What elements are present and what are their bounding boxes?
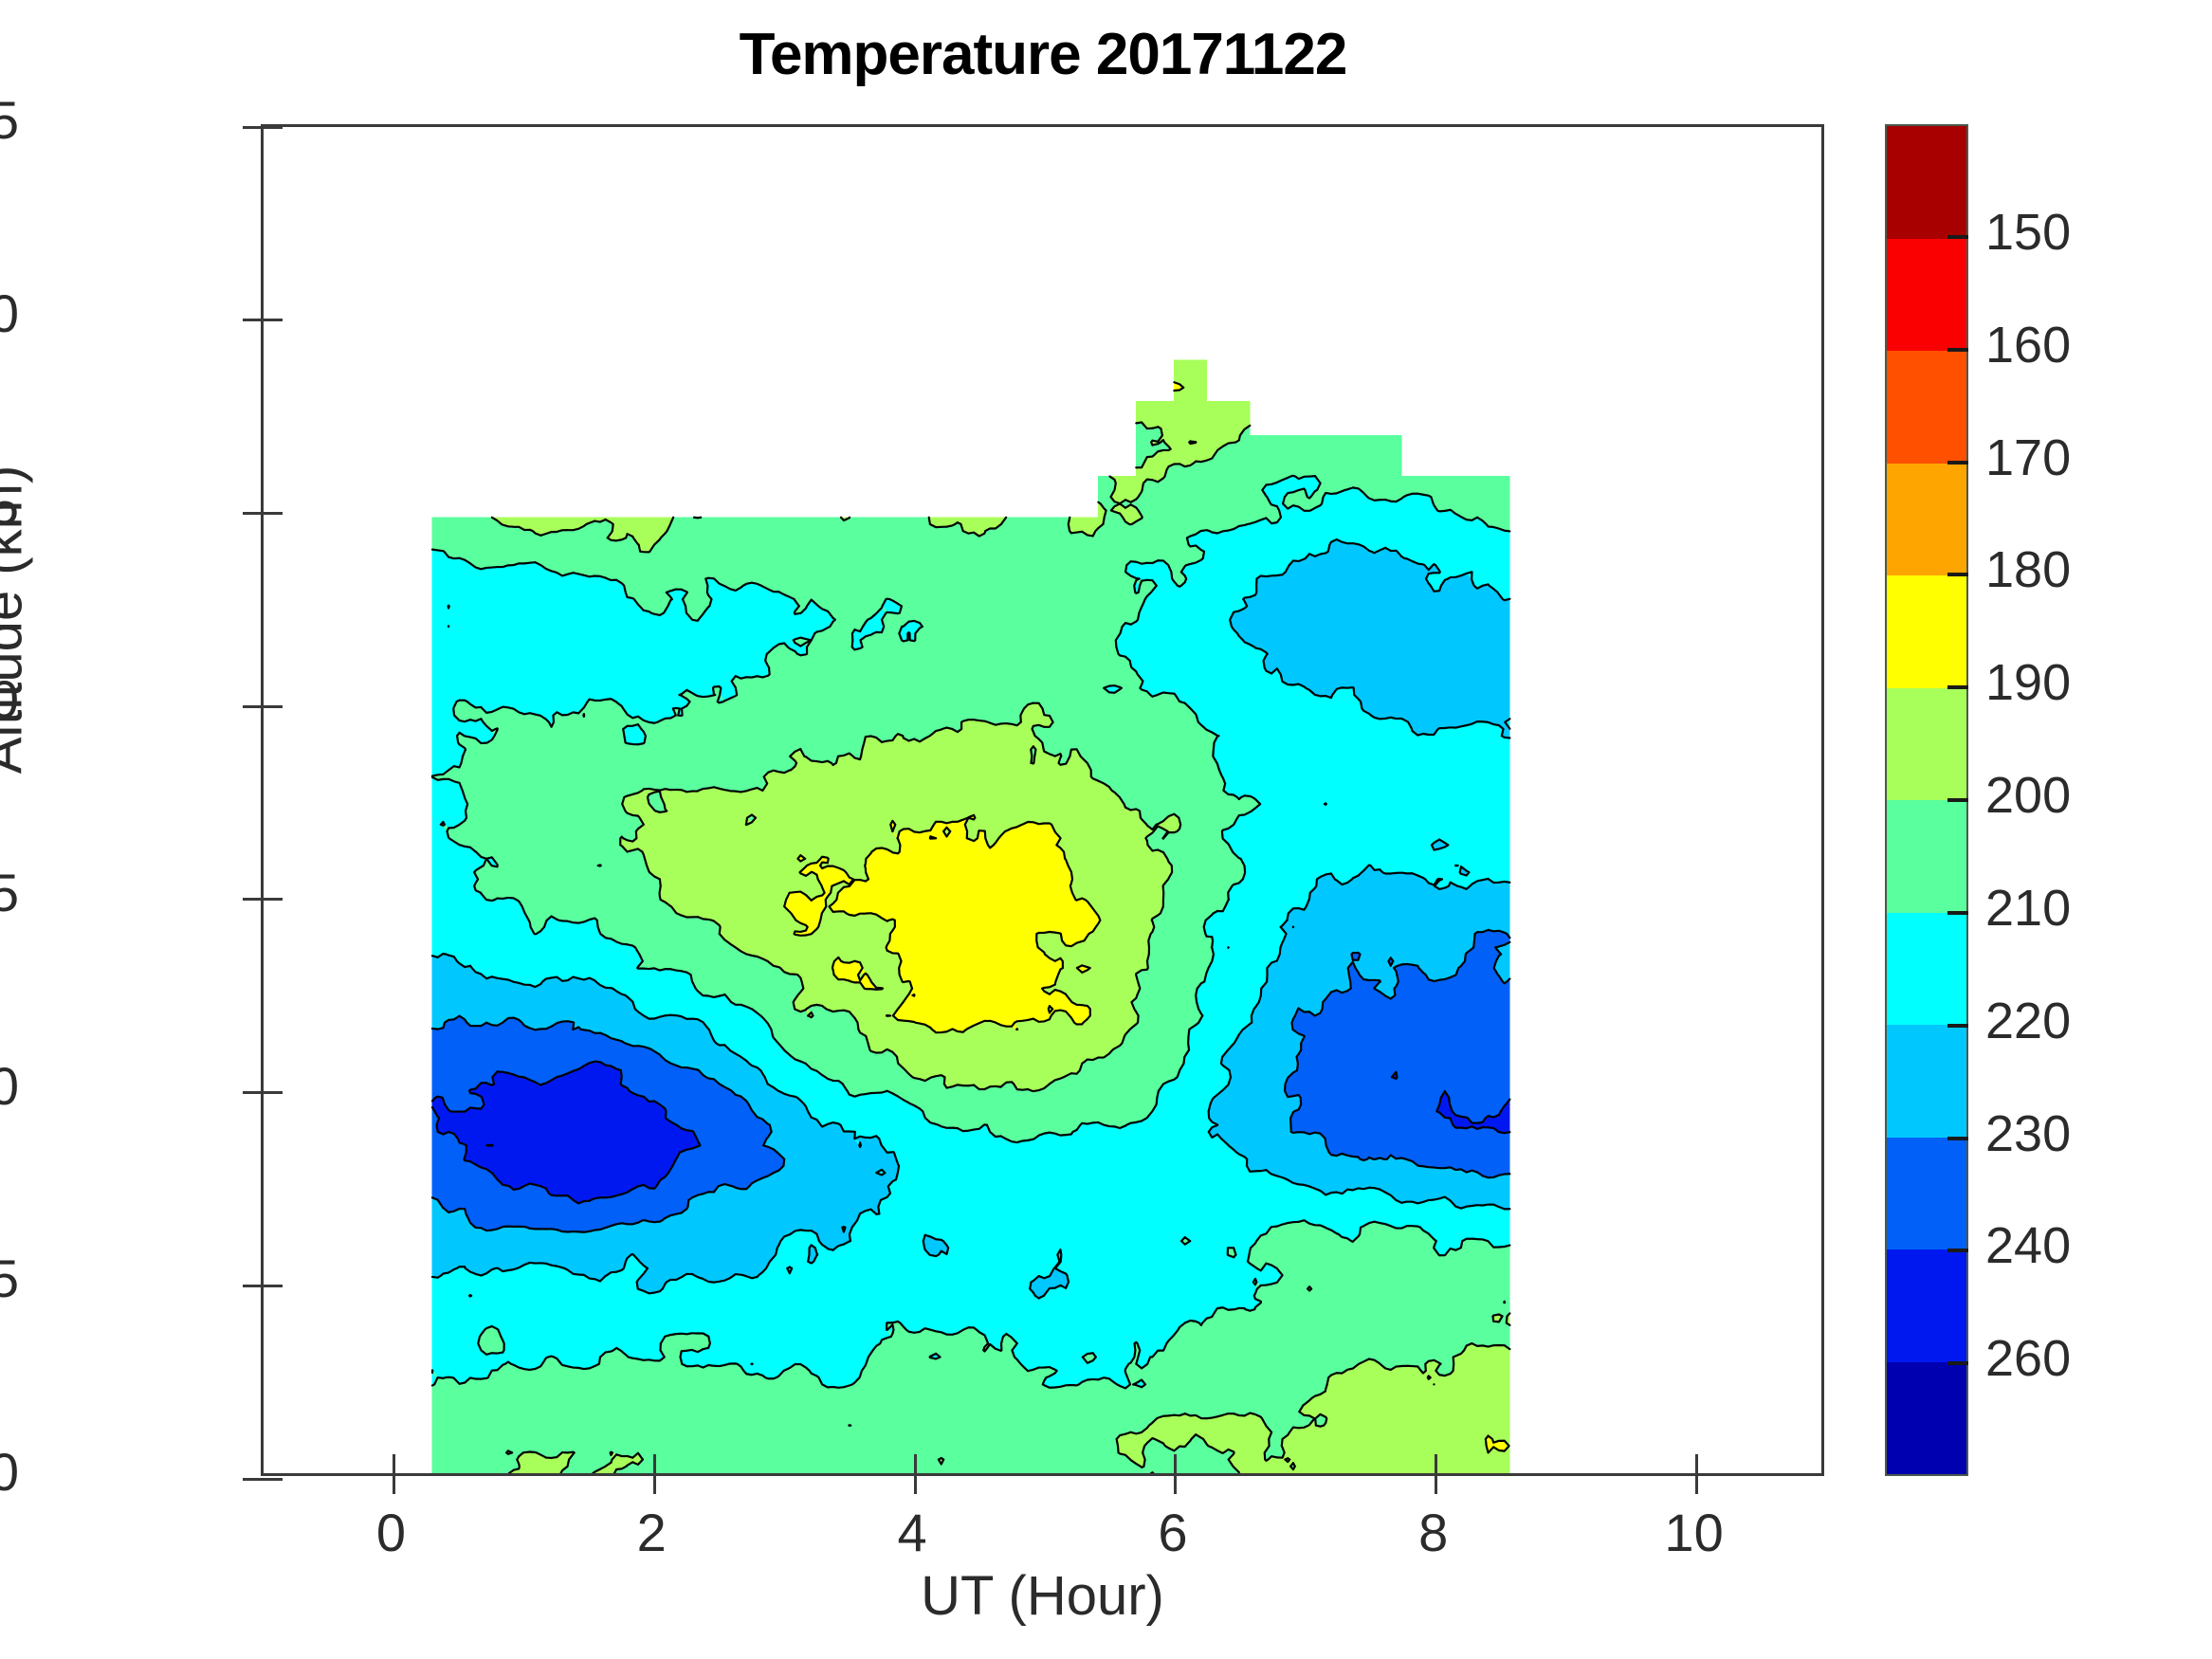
y-tick-inner: [264, 1478, 283, 1481]
x-tick-mark: [1695, 1473, 1698, 1494]
colorbar-tick-label: 190: [1985, 657, 2071, 708]
x-tick-label: 2: [557, 1506, 746, 1559]
colorbar-tick-label: 160: [1985, 319, 2071, 371]
y-tick-inner: [264, 705, 283, 708]
y-tick-label: 80: [0, 1446, 19, 1499]
colorbar-tick-mark: [1947, 461, 1968, 465]
x-tick-mark: [393, 1473, 395, 1494]
x-tick-label: 8: [1339, 1506, 1528, 1559]
y-tick-label: 110: [0, 287, 19, 340]
x-tick-mark: [914, 1473, 917, 1494]
x-tick-label: 0: [296, 1506, 485, 1559]
y-axis-label: Altitude (km): [0, 465, 34, 775]
x-tick-inner: [1435, 1454, 1437, 1473]
y-tick-inner: [264, 1091, 283, 1094]
y-tick-mark: [243, 319, 264, 321]
x-tick-label: 6: [1078, 1506, 1268, 1559]
colorbar-band: [1887, 351, 1966, 464]
y-tick-inner: [264, 319, 283, 321]
colorbar-tick-mark: [1947, 573, 1968, 576]
contour-field: [264, 127, 1821, 1473]
colorbar-tick-mark: [1947, 1249, 1968, 1252]
figure-canvas: Temperature 20171122 8085909510010511011…: [0, 0, 2212, 1659]
y-tick-inner: [264, 126, 283, 129]
colorbar-tick-mark: [1947, 1024, 1968, 1028]
y-tick-mark: [243, 1091, 264, 1094]
colorbar-band: [1887, 464, 1966, 576]
colorbar-tick-mark: [1947, 235, 1968, 239]
x-tick-label: 10: [1600, 1506, 1789, 1559]
colorbar-band: [1887, 1138, 1966, 1250]
colorbar-band: [1887, 913, 1966, 1026]
colorbar-band: [1887, 1025, 1966, 1138]
colorbar-tick-mark: [1947, 1361, 1968, 1365]
colorbar-band: [1887, 1362, 1966, 1475]
colorbar-tick-mark: [1947, 911, 1968, 915]
y-tick-inner: [264, 898, 283, 901]
y-tick-mark: [243, 512, 264, 515]
y-tick-mark: [243, 1285, 264, 1287]
colorbar-tick-label: 200: [1985, 770, 2071, 821]
colorbar-band: [1887, 239, 1966, 352]
y-tick-label: 90: [0, 1060, 19, 1113]
page-title: Temperature 20171122: [261, 21, 1825, 88]
colorbar-band: [1887, 126, 1966, 239]
colorbar-tick-label: 210: [1985, 883, 2071, 934]
x-tick-inner: [1695, 1454, 1698, 1473]
x-tick-inner: [653, 1454, 656, 1473]
colorbar-tick-label: 180: [1985, 544, 2071, 595]
y-tick-mark: [243, 126, 264, 129]
y-tick-mark: [243, 705, 264, 708]
colorbar-tick-label: 220: [1985, 995, 2071, 1047]
y-tick-inner: [264, 1285, 283, 1287]
x-tick-mark: [653, 1473, 656, 1494]
y-tick-label: 95: [0, 866, 19, 920]
colorbar-tick-mark: [1947, 685, 1968, 689]
x-tick-mark: [1435, 1473, 1437, 1494]
colorbar-tick-label: 170: [1985, 432, 2071, 483]
y-tick-mark: [243, 1478, 264, 1481]
y-tick-mark: [243, 898, 264, 901]
colorbar-band: [1887, 688, 1966, 801]
colorbar-band: [1887, 575, 1966, 688]
y-tick-label: 85: [0, 1252, 19, 1305]
plot-area[interactable]: [261, 124, 1824, 1476]
y-tick-label: 115: [0, 94, 19, 147]
colorbar-tick-mark: [1947, 348, 1968, 352]
colorbar-tick-label: 260: [1985, 1333, 2071, 1384]
colorbar-band: [1887, 1249, 1966, 1362]
colorbar-tick-label: 150: [1985, 207, 2071, 258]
colorbar-band: [1887, 800, 1966, 913]
colorbar-tick-label: 240: [1985, 1220, 2071, 1271]
colorbar-tick-label: 230: [1985, 1108, 2071, 1159]
x-tick-label: 4: [817, 1506, 1007, 1559]
y-tick-inner: [264, 512, 283, 515]
colorbar-tick-mark: [1947, 798, 1968, 802]
colorbar-tick-mark: [1947, 1137, 1968, 1140]
x-tick-inner: [1174, 1454, 1177, 1473]
x-axis-label: UT (Hour): [261, 1564, 1824, 1628]
x-tick-mark: [1174, 1473, 1177, 1494]
x-tick-inner: [393, 1454, 395, 1473]
x-tick-inner: [914, 1454, 917, 1473]
